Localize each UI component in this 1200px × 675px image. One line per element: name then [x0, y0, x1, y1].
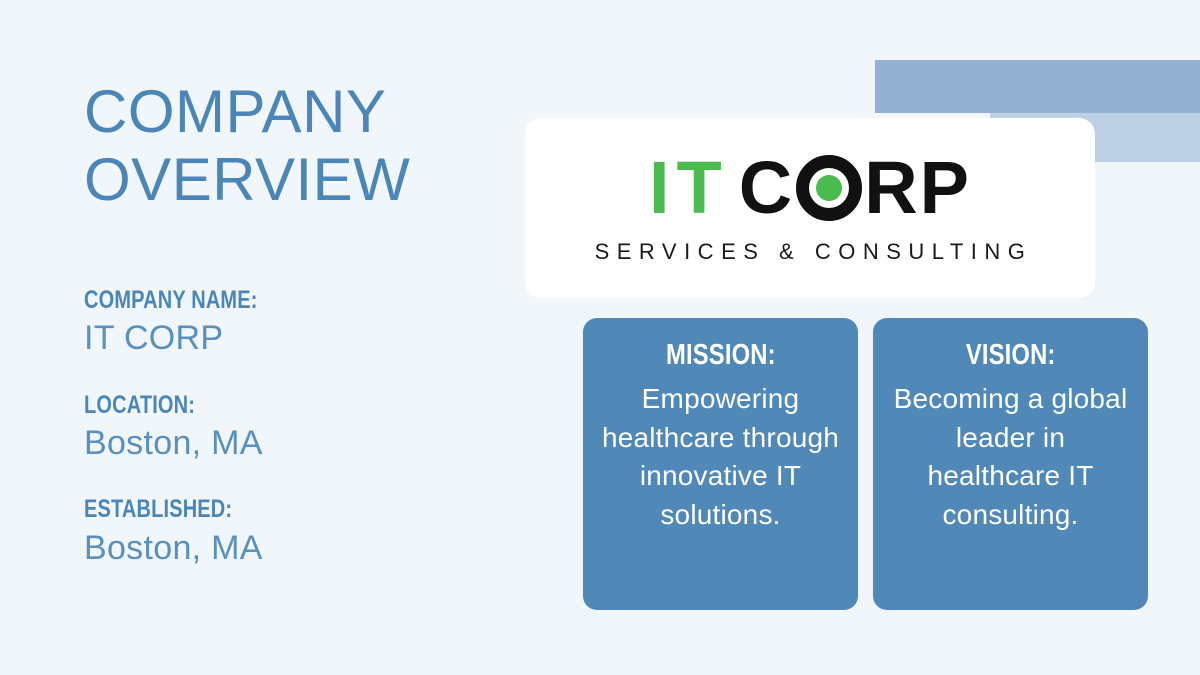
- vision-card: VISION: Becoming a global leader in heal…: [873, 318, 1148, 610]
- info-item-established: ESTABLISHED: Boston, MA: [84, 495, 504, 570]
- info-item-company-name: COMPANY NAME: IT CORP: [84, 286, 504, 361]
- logo-text-it: IT: [649, 151, 729, 225]
- info-value-location: Boston, MA: [84, 421, 504, 465]
- info-label-company-name: COMPANY NAME:: [84, 286, 420, 315]
- logo-tagline: SERVICES & CONSULTING: [588, 239, 1033, 265]
- vision-card-text: Becoming a global leader in healthcare I…: [887, 380, 1134, 535]
- logo-text-c: C: [739, 151, 794, 225]
- mission-card-text: Empowering healthcare through innovative…: [597, 380, 844, 535]
- info-label-location: LOCATION:: [84, 391, 420, 420]
- left-column: COMPANY OVERVIEW COMPANY NAME: IT CORP L…: [84, 78, 504, 570]
- vision-card-title: VISION:: [966, 340, 1056, 372]
- info-label-established: ESTABLISHED:: [84, 495, 420, 524]
- info-item-location: LOCATION: Boston, MA: [84, 391, 504, 466]
- company-info-list: COMPANY NAME: IT CORP LOCATION: Boston, …: [84, 286, 504, 571]
- logo-text-rp: RP: [864, 151, 971, 225]
- mission-card-title: MISSION:: [666, 340, 776, 372]
- logo-wordmark: IT C RP: [649, 151, 971, 225]
- logo-green-dot-icon: [816, 175, 842, 201]
- info-value-company-name: IT CORP: [84, 316, 504, 360]
- mission-card: MISSION: Empowering healthcare through i…: [583, 318, 858, 610]
- info-value-established: Boston, MA: [84, 526, 504, 570]
- logo-card: IT C RP SERVICES & CONSULTING: [525, 118, 1095, 298]
- decorative-rectangle-dark: [875, 60, 1200, 113]
- page-title: COMPANY OVERVIEW: [84, 78, 504, 214]
- slide-canvas: COMPANY OVERVIEW COMPANY NAME: IT CORP L…: [0, 0, 1200, 675]
- logo-ring-o-icon: [796, 155, 862, 221]
